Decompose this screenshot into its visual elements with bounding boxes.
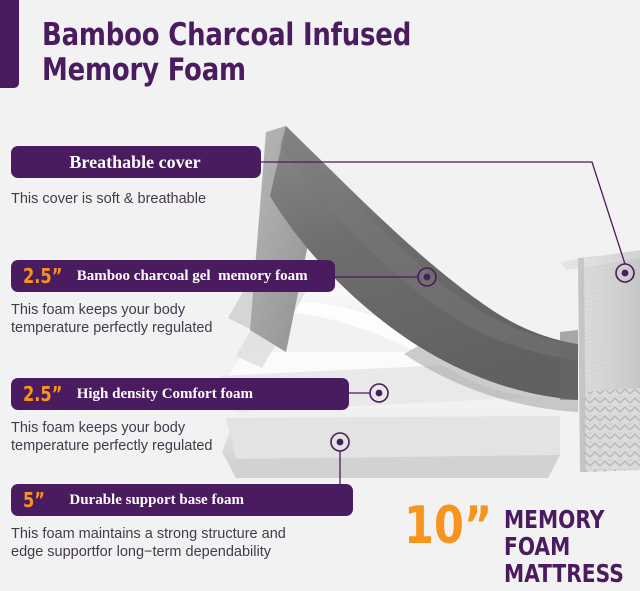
callout-pill-high-density-comfort-foam[interactable]: 2.5” High density Comfort foam	[11, 378, 349, 410]
callout-label-breathable-cover: Breathable cover	[69, 153, 200, 171]
callout-label-durable-support-base-foam: Durable support base foam	[69, 493, 244, 508]
callout-label-high-density-comfort-foam: High density Comfort foam	[77, 387, 253, 402]
callout-connectors	[261, 162, 625, 484]
marker-gel-memory-foam	[418, 268, 436, 286]
size-lockup-number: 10”	[404, 503, 492, 551]
marker-breathable-cover	[616, 264, 634, 282]
callout-measure-durable-support-base-foam: 5”	[23, 490, 45, 510]
size-lockup-text: MEMORY FOAM MATTRESS	[504, 503, 627, 587]
callout-description-breathable-cover: This cover is soft & breathable	[11, 190, 311, 208]
callout-description-high-density-comfort-foam: This foam keeps your body temperature pe…	[11, 419, 311, 455]
size-lockup: 10” MEMORY FOAM MATTRESS	[404, 503, 640, 587]
callout-description-durable-support-base-foam: This foam maintains a strong structure a…	[11, 525, 351, 561]
callout-markers	[331, 264, 634, 451]
page-title: Bamboo Charcoal Infused Memory Foam	[42, 18, 526, 87]
callout-measure-high-density-comfort-foam: 2.5”	[23, 384, 62, 404]
marker-support-base-foam	[331, 433, 349, 451]
callout-pill-bamboo-charcoal-gel-memory-foam[interactable]: 2.5” Bamboo charcoal gel memory foam	[11, 260, 335, 292]
callout-measure-bamboo-charcoal-gel-memory-foam: 2.5”	[23, 266, 62, 286]
mattress-cover-panel	[560, 250, 640, 472]
callout-pill-durable-support-base-foam[interactable]: 5” Durable support base foam	[11, 484, 353, 516]
callout-label-bamboo-charcoal-gel-memory-foam: Bamboo charcoal gel memory foam	[77, 269, 308, 284]
accent-bar	[0, 0, 19, 88]
callout-description-bamboo-charcoal-gel-memory-foam: This foam keeps your body temperature pe…	[11, 301, 311, 337]
marker-comfort-foam	[370, 384, 388, 402]
callout-pill-breathable-cover[interactable]: Breathable cover	[11, 146, 261, 178]
mattress-infographic: Bamboo Charcoal Infused Memory Foam	[0, 0, 640, 591]
layer-gel-right-edge	[560, 330, 578, 400]
